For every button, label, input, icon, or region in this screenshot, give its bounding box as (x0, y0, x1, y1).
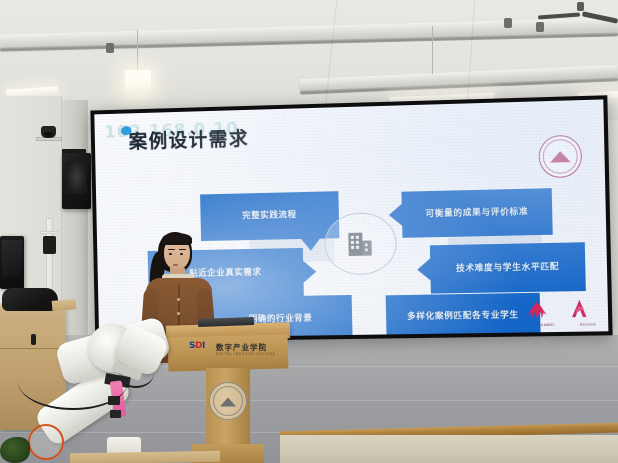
podium-university-seal (209, 382, 247, 420)
callout-left-1-label: 完整实践流程 (242, 210, 297, 221)
rail-fitting-b (536, 22, 544, 32)
rail-fitting-c (106, 43, 114, 53)
office-building-icon (345, 229, 376, 258)
stage-front-face (280, 435, 618, 463)
wall-monitor (0, 236, 24, 289)
sdi-logo: SDI (189, 341, 205, 351)
robot-base-ring (28, 424, 64, 460)
seal-mountain-icon (550, 151, 571, 163)
cabinet-handle (31, 334, 36, 345)
presenter-mouth (173, 264, 178, 266)
huawei-logo-caption: HUAWEI (537, 323, 554, 327)
podium-college-name-en: DIGITAL INDUSTRY COLLEGE (216, 352, 276, 356)
pendant-wire (137, 30, 138, 72)
potted-plant (0, 437, 30, 463)
university-seal (538, 135, 582, 179)
pendant-wire-2 (432, 26, 433, 74)
center-hub-circle (324, 212, 397, 276)
callout-right-2-label: 技术难度与学生水平匹配 (456, 262, 559, 274)
black-bag (2, 288, 58, 311)
wall-speaker (62, 153, 91, 209)
presenter-button (177, 312, 180, 315)
cabinet-seam (0, 348, 66, 349)
presenter-eye-left (169, 253, 172, 255)
ascend-logo-caption: Ascend (580, 322, 596, 326)
presenter-button (177, 298, 180, 301)
sdi-logo-letter-d: D (195, 341, 202, 351)
presenter-hair-top (162, 233, 192, 245)
wall-trim-horizontal (40, 231, 59, 234)
ceiling-camera-icon (41, 126, 56, 138)
presentation-photo-scene: 102.168.0.10 案例设计需求 完整实践流程 贴近企业真实需求 (0, 0, 618, 463)
ascend-logo (569, 299, 590, 320)
wall-outlet-box (43, 236, 56, 254)
callout-right-3-label: 多样化案例匹配各专业学生 (407, 311, 519, 323)
callout-right-3[interactable]: 多样化案例匹配各专业学生 (386, 293, 541, 339)
callout-right-1-label: 可衡量的成果与评价标准 (425, 207, 528, 220)
callout-right-2[interactable]: 技术难度与学生水平匹配 (430, 242, 586, 293)
front-table (70, 451, 220, 463)
ceiling-fan-hub (577, 2, 584, 11)
page-title: 案例设计需求 (128, 124, 249, 154)
podium-seal-mountain-icon (220, 397, 236, 406)
pendant-lamp (125, 70, 151, 94)
presenter-eye-right (180, 253, 183, 255)
callout-right-1[interactable]: 可衡量的成果与评价标准 (401, 188, 552, 238)
side-table (52, 299, 77, 311)
rail-fitting-a (504, 18, 512, 28)
sdi-logo-letter-i: I (202, 341, 205, 351)
robot-gripper-sensor-2 (110, 410, 121, 418)
huawei-logo (526, 300, 549, 321)
